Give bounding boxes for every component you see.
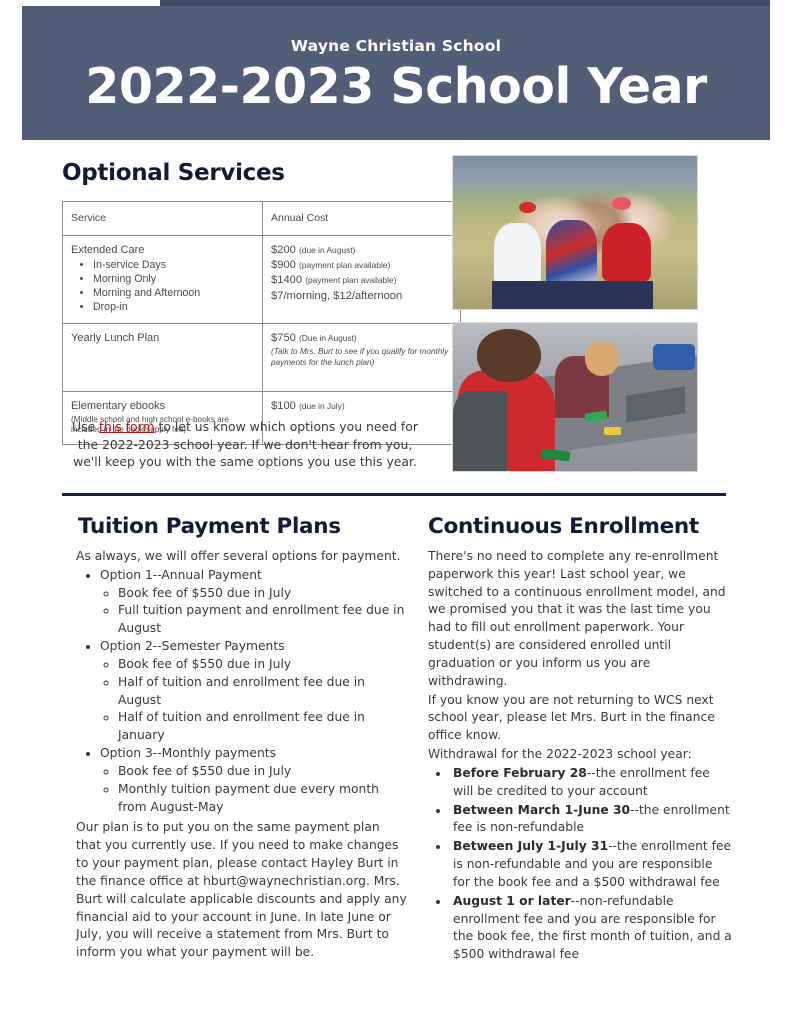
service-title: Elementary ebooks [71,399,254,414]
withdrawal-period: Between July 1-July 31 [453,839,608,853]
list-item: Before February 28--the enrollment fee w… [450,765,732,801]
cost-note: (Due in August) [299,333,357,343]
cost-note: (payment plan available) [299,260,390,270]
cost-amount: $200 [271,244,296,256]
tool-bag [653,344,694,371]
service-cell-extended-care: Extended Care In-service Days Morning On… [63,236,263,324]
table-row: Yearly Lunch Plan $750 (Due in August) (… [63,323,461,391]
list-item: Morning Only [93,273,254,287]
hair-bow-decoration [612,197,632,209]
optional-services-heading: Optional Services [62,160,285,186]
withdrawal-period: Before February 28 [453,766,587,780]
cost-amount: $750 [271,332,296,344]
option-detail-list: Book fee of $550 due in July Monthly tui… [100,763,408,816]
list-item: Full tuition payment and enrollment fee … [118,602,408,638]
option-detail-list: Book fee of $550 due in July Half of tui… [100,656,408,745]
photo-students-lab [452,322,698,472]
cost-line: $900 (payment plan available) [271,258,452,273]
list-item: Morning and Afternoon [93,287,254,301]
service-cell-lunch-plan: Yearly Lunch Plan [63,323,263,391]
cost-line: $100 (due in July) [271,399,452,414]
enrollment-paragraph-2: If you know you are not returning to WCS… [428,692,732,745]
page-title: 2022-2023 School Year [22,61,770,112]
student-white-shirt [494,223,540,284]
option-label: Option 3--Monthly payments [100,746,276,760]
withdrawal-policy-list: Before February 28--the enrollment fee w… [428,765,732,964]
enrollment-paragraph-1: There's no need to complete any re-enrol… [428,548,732,691]
cost-italic-note: (Talk to Mrs. Burt to see if you qualify… [271,347,452,369]
cost-note: (due in August) [299,245,355,255]
cost-note: (payment plan available) [305,275,396,285]
option-detail-list: Book fee of $550 due in July Full tuitio… [100,585,408,638]
list-item: Book fee of $550 due in July [118,656,408,674]
list-item: Option 3--Monthly payments Book fee of $… [100,745,408,816]
student-blue-shirt [546,220,597,284]
student-head [585,341,619,377]
list-item: Monthly tuition payment due every month … [118,781,408,817]
cost-line: $7/morning, $12/afternoon [271,289,452,304]
cost-amount: $7/morning, $12/afternoon [271,290,402,302]
hair-bow-decoration [519,202,536,213]
tuition-heading: Tuition Payment Plans [78,514,408,539]
column-header-service: Service [63,202,263,236]
tuition-closing-paragraph: Our plan is to put you on the same payme… [76,819,408,962]
continuous-enrollment-section: Continuous Enrollment There's no need to… [428,514,732,965]
list-item: Half of tuition and enrollment fee due i… [118,674,408,710]
list-item: Book fee of $550 due in July [118,763,408,781]
continuous-enrollment-heading: Continuous Enrollment [428,514,732,539]
list-item: Half of tuition and enrollment fee due i… [118,709,408,745]
student-hoodie [453,391,507,471]
cost-line: $200 (due in August) [271,243,452,258]
withdrawal-period: Between March 1-June 30 [453,803,630,817]
cost-amount: $1400 [271,274,302,286]
cost-amount: $100 [271,400,296,412]
cost-line: $750 (Due in August) [271,331,452,346]
tuition-payment-plans-section: Tuition Payment Plans As always, we will… [76,514,408,963]
option-label: Option 1--Annual Payment [100,568,262,582]
cost-cell-lunch-plan: $750 (Due in August) (Talk to Mrs. Burt … [263,323,461,391]
list-item: Between July 1-July 31--the enrollment f… [450,838,732,891]
list-item: Drop-in [93,301,254,315]
form-instruction-note: Use this form to let us know which optio… [62,418,428,471]
school-name: Wayne Christian School [22,38,770,55]
list-item: Between March 1-June 30--the enrollment … [450,802,732,838]
student-head [477,329,540,382]
cost-cell-extended-care: $200 (due in August) $900 (payment plan … [263,236,461,324]
list-item: August 1 or later--non-refundable enroll… [450,893,732,964]
tuition-options-list: Option 1--Annual Payment Book fee of $55… [76,567,408,817]
list-item: Option 1--Annual Payment Book fee of $55… [100,567,408,638]
this-form-link[interactable]: this form [99,419,154,434]
service-title: Extended Care [71,243,254,258]
list-item: Option 2--Semester Payments Book fee of … [100,638,408,745]
tuition-intro: As always, we will offer several options… [76,548,408,566]
withdrawal-intro: Withdrawal for the 2022-2023 school year… [428,746,732,764]
student-red-shirt [602,223,651,281]
service-item-list: In-service Days Morning Only Morning and… [71,259,254,315]
withdrawal-period: August 1 or later [453,894,571,908]
form-note-before: Use [72,419,99,434]
table-header-row: Service Annual Cost [63,202,461,236]
section-divider [62,493,726,496]
table-row: Extended Care In-service Days Morning On… [63,236,461,324]
student-navy-pants [492,281,653,309]
list-item: Book fee of $550 due in July [118,585,408,603]
page-header-banner: Wayne Christian School 2022-2023 School … [22,6,770,140]
cost-amount: $900 [271,259,296,271]
cost-note: (due in July) [299,401,345,411]
column-header-annual-cost: Annual Cost [263,202,461,236]
option-label: Option 2--Semester Payments [100,639,285,653]
list-item: In-service Days [93,259,254,273]
yellow-component [604,427,621,436]
service-title: Yearly Lunch Plan [71,331,254,346]
document-page: Wayne Christian School 2022-2023 School … [0,0,790,1023]
photo-students-outdoors [452,155,698,310]
optional-services-table: Service Annual Cost Extended Care In-ser… [62,201,461,445]
cost-line: $1400 (payment plan available) [271,273,452,288]
